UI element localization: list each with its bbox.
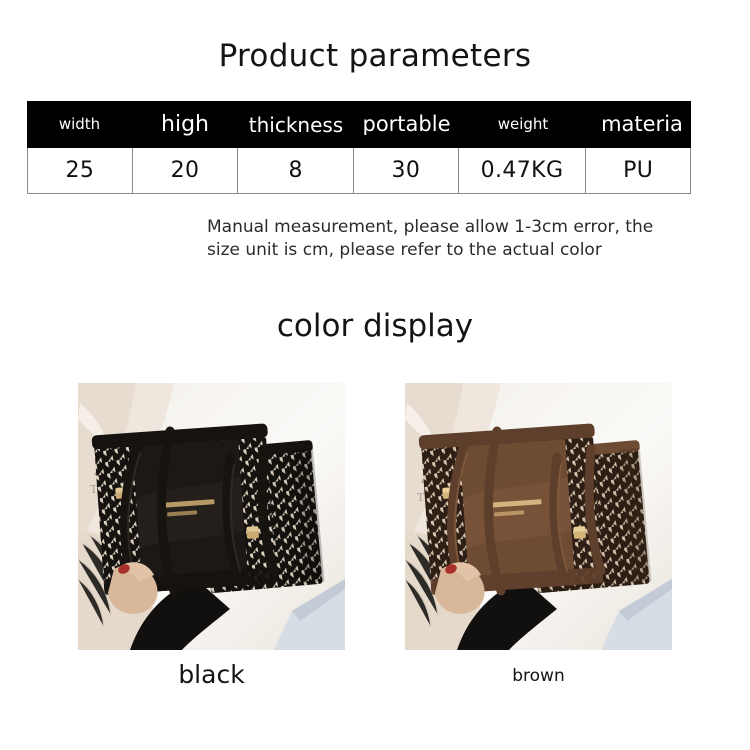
spec-header-weight: weight [459,117,587,132]
color-label-black: black [78,660,345,689]
disclaimer-line-2: size unit is cm, please refer to the act… [207,239,707,262]
disclaimer-line-1: Manual measurement, please allow 1-3cm e… [207,216,707,239]
spec-table: width high thickness portable weight mat… [27,101,691,194]
spec-value-portable: 30 [354,148,459,193]
spec-value-material: PU [586,148,690,193]
measurement-disclaimer: Manual measurement, please allow 1-3cm e… [207,216,707,261]
color-option-brown[interactable]: ART THE C [405,383,672,686]
spec-header-portable: portable [354,114,459,135]
spec-header-width: width [27,117,132,132]
hand [435,562,485,614]
product-photo-black[interactable]: ARTS THE CRA [78,383,345,650]
spec-value-width: 25 [28,148,133,193]
color-option-black[interactable]: ARTS THE CRA [78,383,345,689]
spec-table-value-row: 25 20 8 30 0.47KG PU [27,148,691,194]
page-title: Product parameters [0,38,750,74]
hand [108,562,158,614]
spec-header-material: materia [587,114,691,135]
spec-value-weight: 0.47KG [459,148,587,193]
spec-header-high: high [132,114,238,136]
color-label-brown: brown [405,666,672,686]
spec-header-thickness: thickness [238,115,354,135]
spec-value-thickness: 8 [238,148,354,193]
product-photo-brown[interactable]: ART THE C [405,383,672,650]
spec-table-header-row: width high thickness portable weight mat… [27,101,691,148]
spec-value-high: 20 [133,148,239,193]
section-title-color-display: color display [0,308,750,344]
